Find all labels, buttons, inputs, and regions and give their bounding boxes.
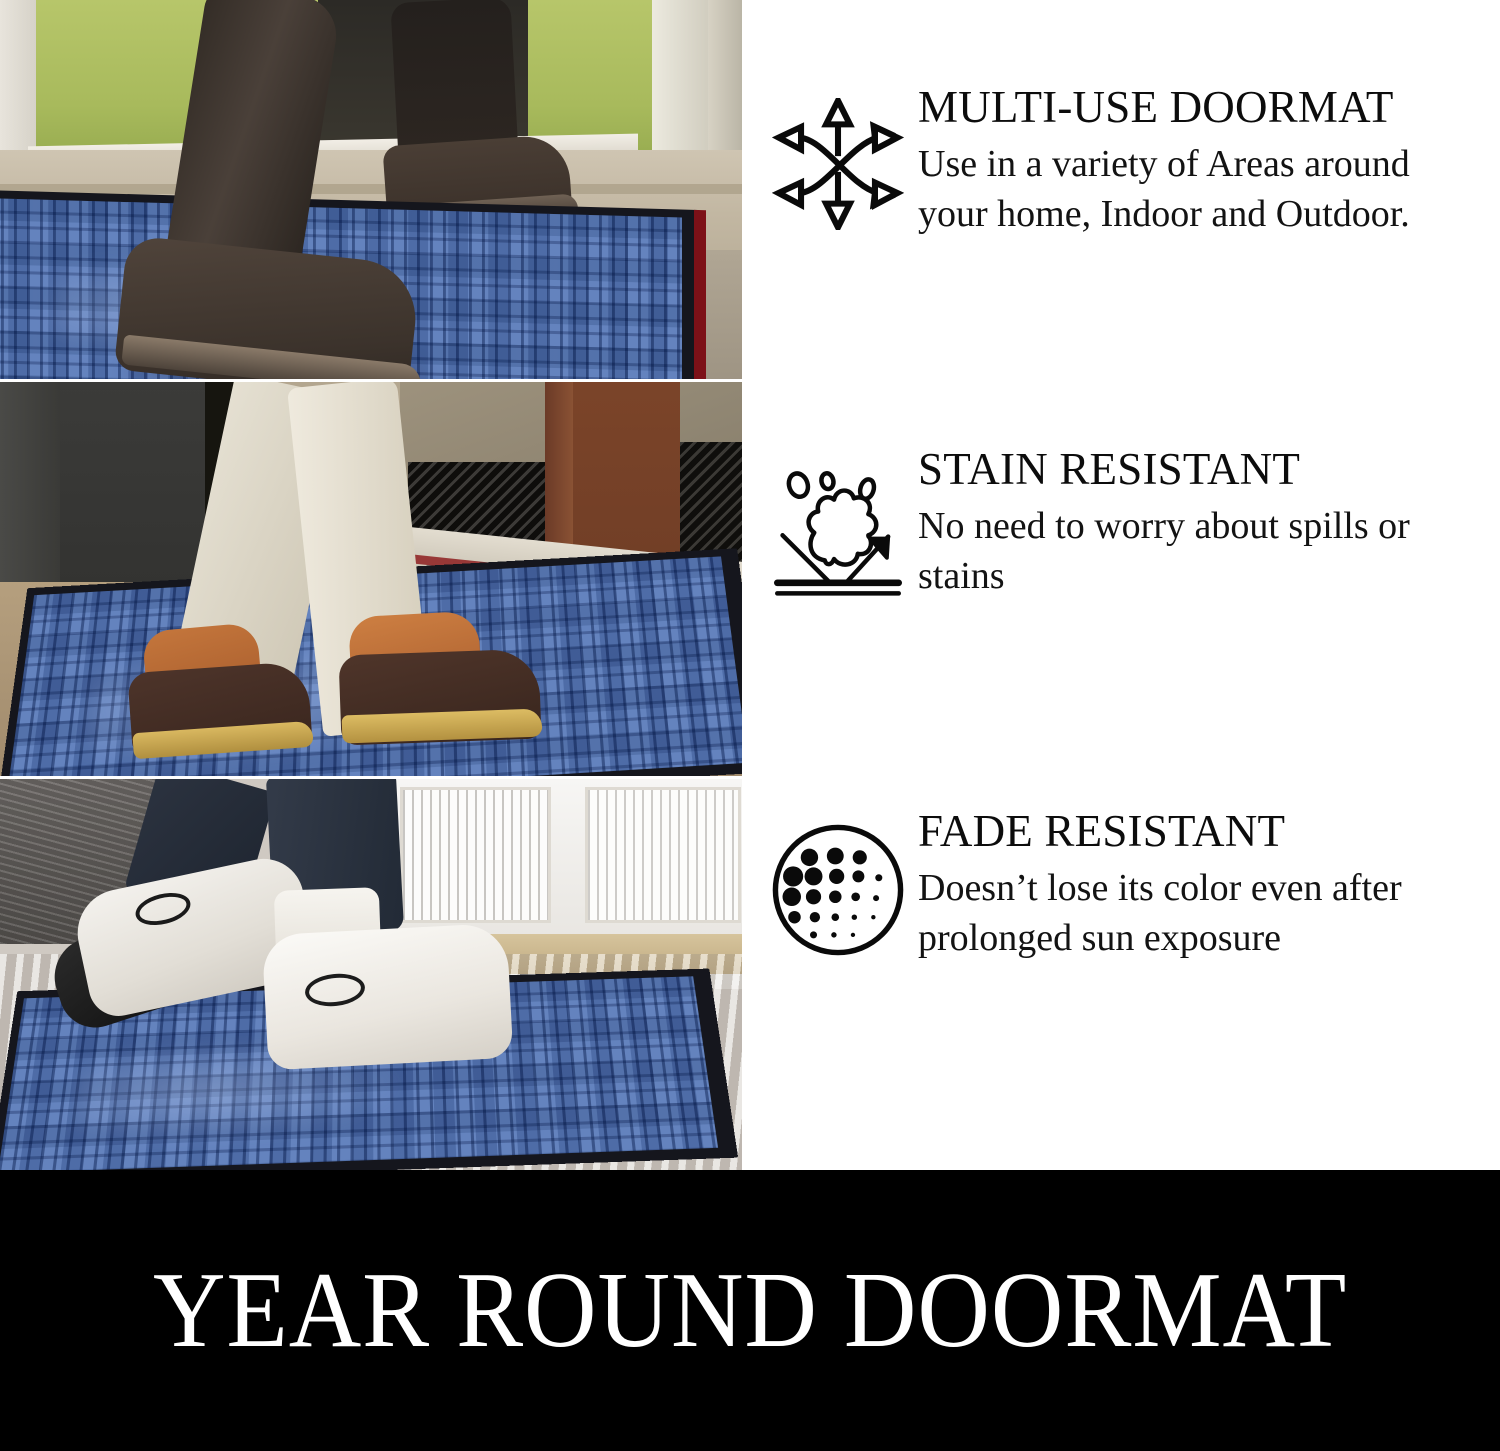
step-edge [0,184,742,194]
photo-column [0,0,742,1170]
multi-direction-arrows-icon [758,84,918,230]
sneaker-right [262,923,514,1071]
feature-text: STAIN RESISTANT No need to worry about s… [918,446,1500,602]
feature-title: FADE RESISTANT [918,808,1486,856]
fading-dots-circle-icon [758,808,918,958]
feature-stain-resistant: STAIN RESISTANT No need to worry about s… [742,446,1500,808]
feature-title: STAIN RESISTANT [918,446,1486,494]
feature-text: FADE RESISTANT Doesn’t lose its color ev… [918,808,1500,964]
photo-boots-front-door [0,0,742,379]
photo-sneakers-interior-door [0,779,742,1170]
features-column: MULTI-USE DOORMAT Use in a variety of Ar… [742,0,1500,1170]
feature-text: MULTI-USE DOORMAT Use in a variety of Ar… [918,84,1500,240]
feature-multi-use-doormat: MULTI-USE DOORMAT Use in a variety of Ar… [742,84,1500,446]
product-infographic: MULTI-USE DOORMAT Use in a variety of Ar… [0,0,1500,1451]
bottom-banner: YEAR ROUND DOORMAT [0,1170,1500,1451]
door-glass-panel-left [400,787,551,923]
feature-description: Doesn’t lose its color even after prolon… [918,863,1486,964]
feature-fade-resistant: FADE RESISTANT Doesn’t lose its color ev… [742,808,1500,1170]
mat-red-edge [694,210,706,379]
door-glass-panel-right [585,787,741,923]
feature-title: MULTI-USE DOORMAT [918,84,1486,132]
content-area: MULTI-USE DOORMAT Use in a variety of Ar… [0,0,1500,1170]
liquid-splash-repel-icon [758,446,918,600]
feature-description: No need to worry about spills or stains [918,501,1486,602]
banner-title: YEAR ROUND DOORMAT [153,1257,1347,1365]
photo-duck-boots-entrance [0,382,742,776]
feature-description: Use in a variety of Areas around your ho… [918,139,1486,240]
